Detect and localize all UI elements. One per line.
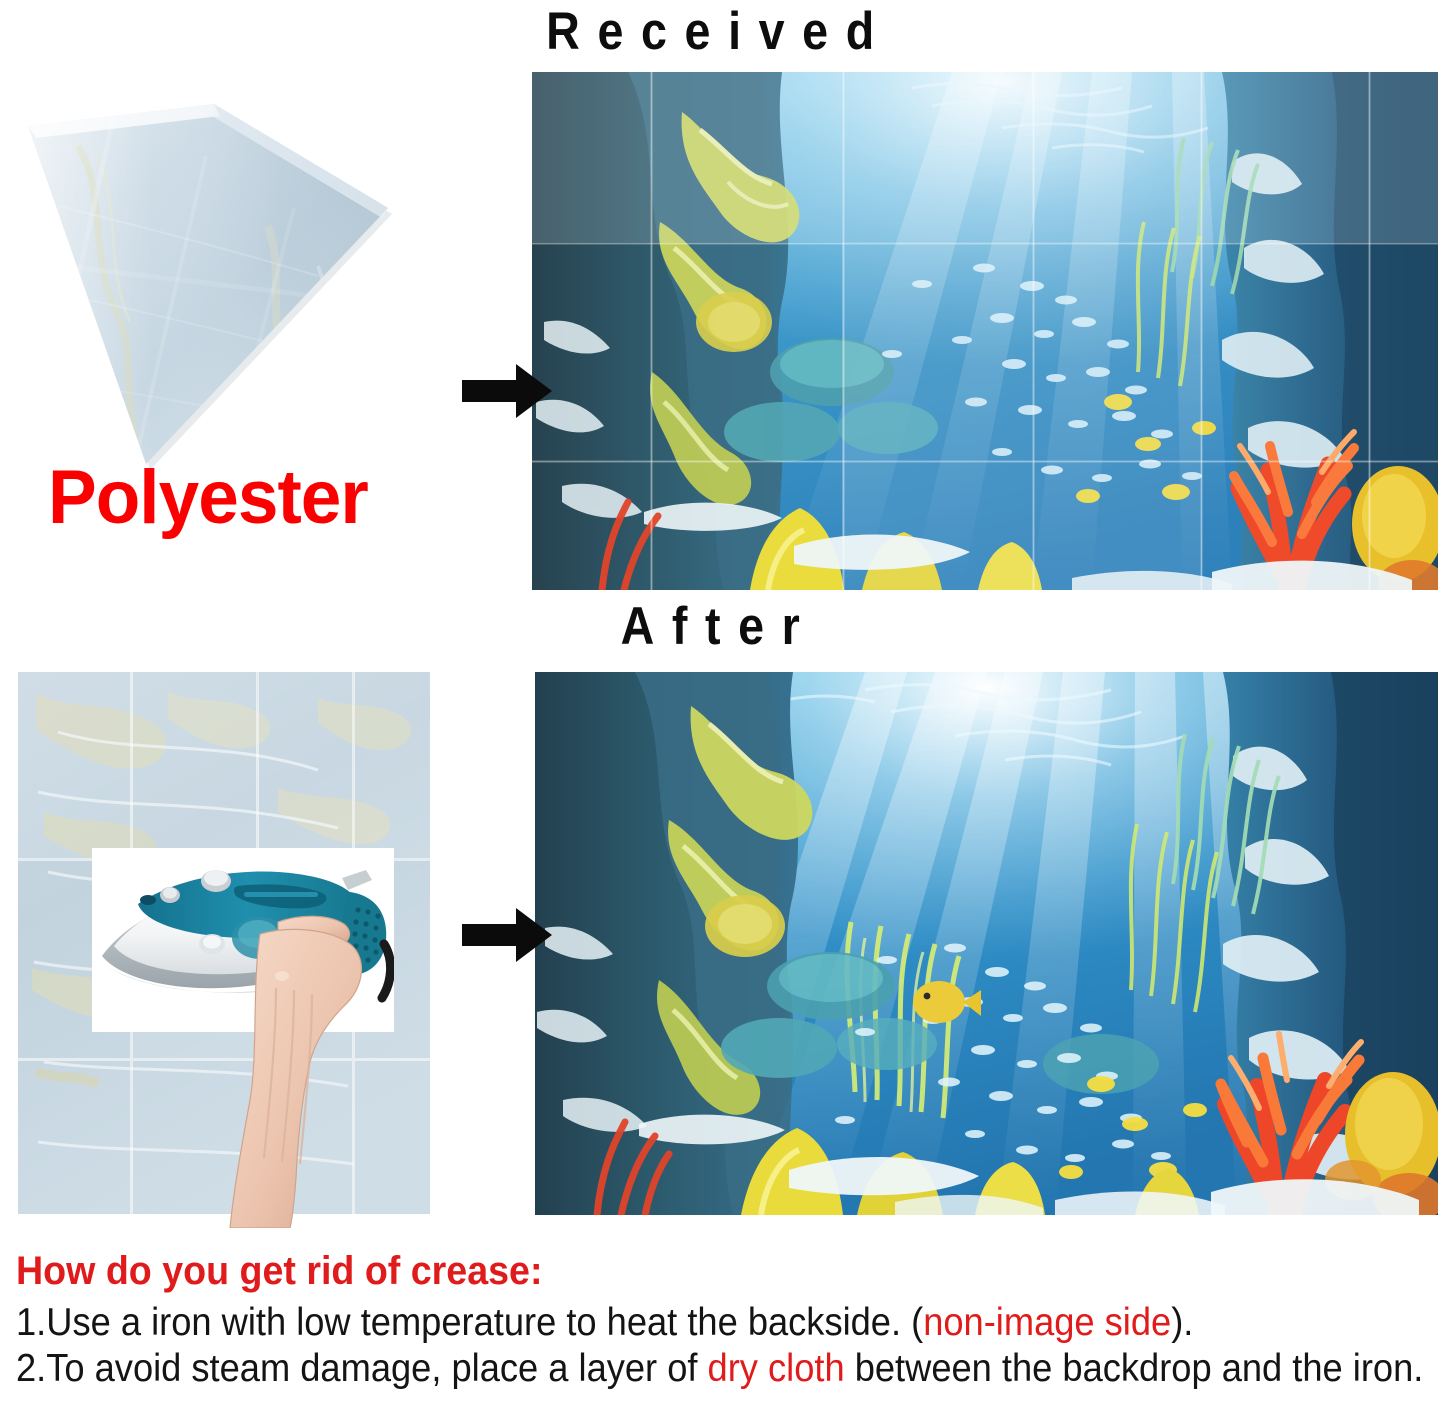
howto-heading: How do you get rid of crease: bbox=[16, 1248, 1341, 1294]
iron-photo-inset bbox=[92, 848, 394, 1032]
folded-fabric-photo bbox=[18, 86, 430, 486]
howto-line-1-highlight: non-image side bbox=[923, 1301, 1171, 1344]
after-backdrop-photo bbox=[535, 672, 1438, 1215]
section-title-after: After bbox=[86, 597, 1351, 657]
material-label-polyester: Polyester bbox=[48, 455, 368, 541]
howto-line-2: 2.To avoid steam damage, place a layer o… bbox=[16, 1346, 1327, 1392]
howto-line-1-part-a: 1.Use a iron with low temperature to hea… bbox=[16, 1301, 923, 1344]
howto-line-2-highlight: dry cloth bbox=[708, 1347, 845, 1390]
howto-line-1: 1.Use a iron with low temperature to hea… bbox=[16, 1300, 1327, 1346]
section-title-received: Received bbox=[86, 2, 1351, 62]
howto-line-2-part-a: 2.To avoid steam damage, place a layer o… bbox=[16, 1347, 708, 1390]
received-backdrop-photo bbox=[532, 72, 1438, 590]
howto-line-2-part-b: between the backdrop and the iron. bbox=[845, 1347, 1424, 1390]
right-arrow-icon bbox=[462, 362, 552, 420]
right-arrow-icon-bottom bbox=[462, 906, 552, 964]
howto-line-1-part-b: ). bbox=[1171, 1301, 1193, 1344]
howto-block: How do you get rid of crease: 1.Use a ir… bbox=[16, 1248, 1426, 1392]
